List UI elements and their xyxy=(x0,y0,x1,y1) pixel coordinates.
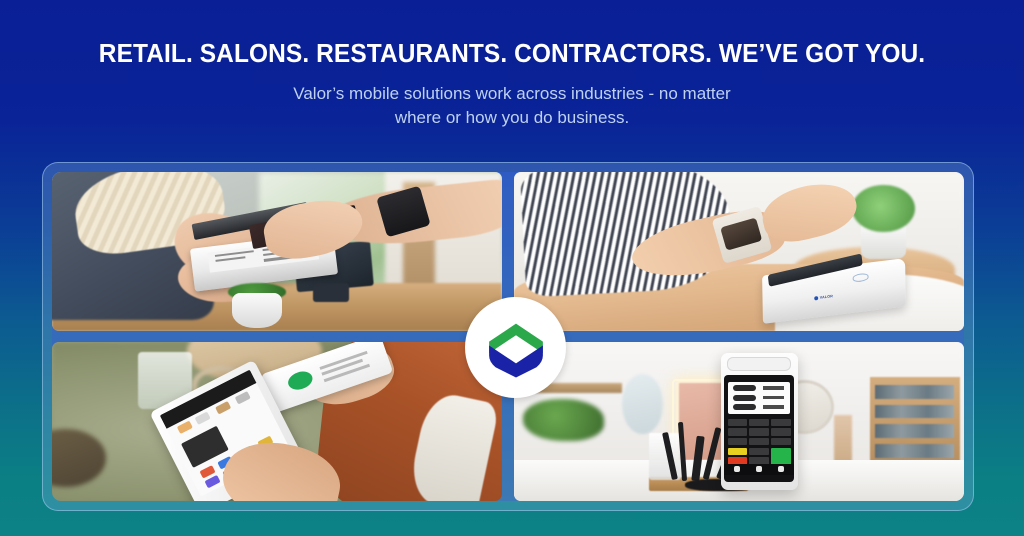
approved-check-icon xyxy=(285,369,314,394)
valor-logo-mark: VALOR xyxy=(819,294,832,300)
subtitle-line-1: Valor’s mobile solutions work across ind… xyxy=(0,82,1024,106)
page-title: RETAIL. SALONS. RESTAURANTS. CONTRACTORS… xyxy=(20,40,1003,69)
photo-tile-restaurant-handheld: Overhead view of a handheld Valor POS te… xyxy=(52,342,502,501)
subtitle-line-2: where or how you do business. xyxy=(0,106,1024,130)
valor-logo-badge xyxy=(465,297,566,398)
valor-smart-terminal xyxy=(721,353,798,490)
monitor-stand xyxy=(313,283,349,302)
subtitle: Valor’s mobile solutions work across ind… xyxy=(0,82,1024,130)
header: RETAIL. SALONS. RESTAURANTS. CONTRACTORS… xyxy=(0,0,1024,131)
oval-mirror xyxy=(622,374,663,434)
photo-tile-contactless-smartwatch: VALOR Customer in striped shirt taps a s… xyxy=(514,172,964,331)
plant-pot xyxy=(232,293,282,328)
terminal-nav-bar xyxy=(724,464,794,476)
amount-panel xyxy=(728,382,790,414)
terminal-printer xyxy=(727,357,791,371)
terminal-screen xyxy=(724,375,794,482)
key-backspace xyxy=(728,448,748,455)
plant-foliage xyxy=(852,185,915,233)
key-enter xyxy=(771,448,791,465)
photo-tile-retail-checkout: Retail checkout: shop employee in dark a… xyxy=(52,172,502,331)
shelf-plants xyxy=(523,399,604,440)
contactless-icon xyxy=(852,274,868,283)
valor-shield-logo-icon xyxy=(484,316,548,380)
photo-tile-salon-terminal: Salon counter with lit vanity mirror, st… xyxy=(514,342,964,501)
